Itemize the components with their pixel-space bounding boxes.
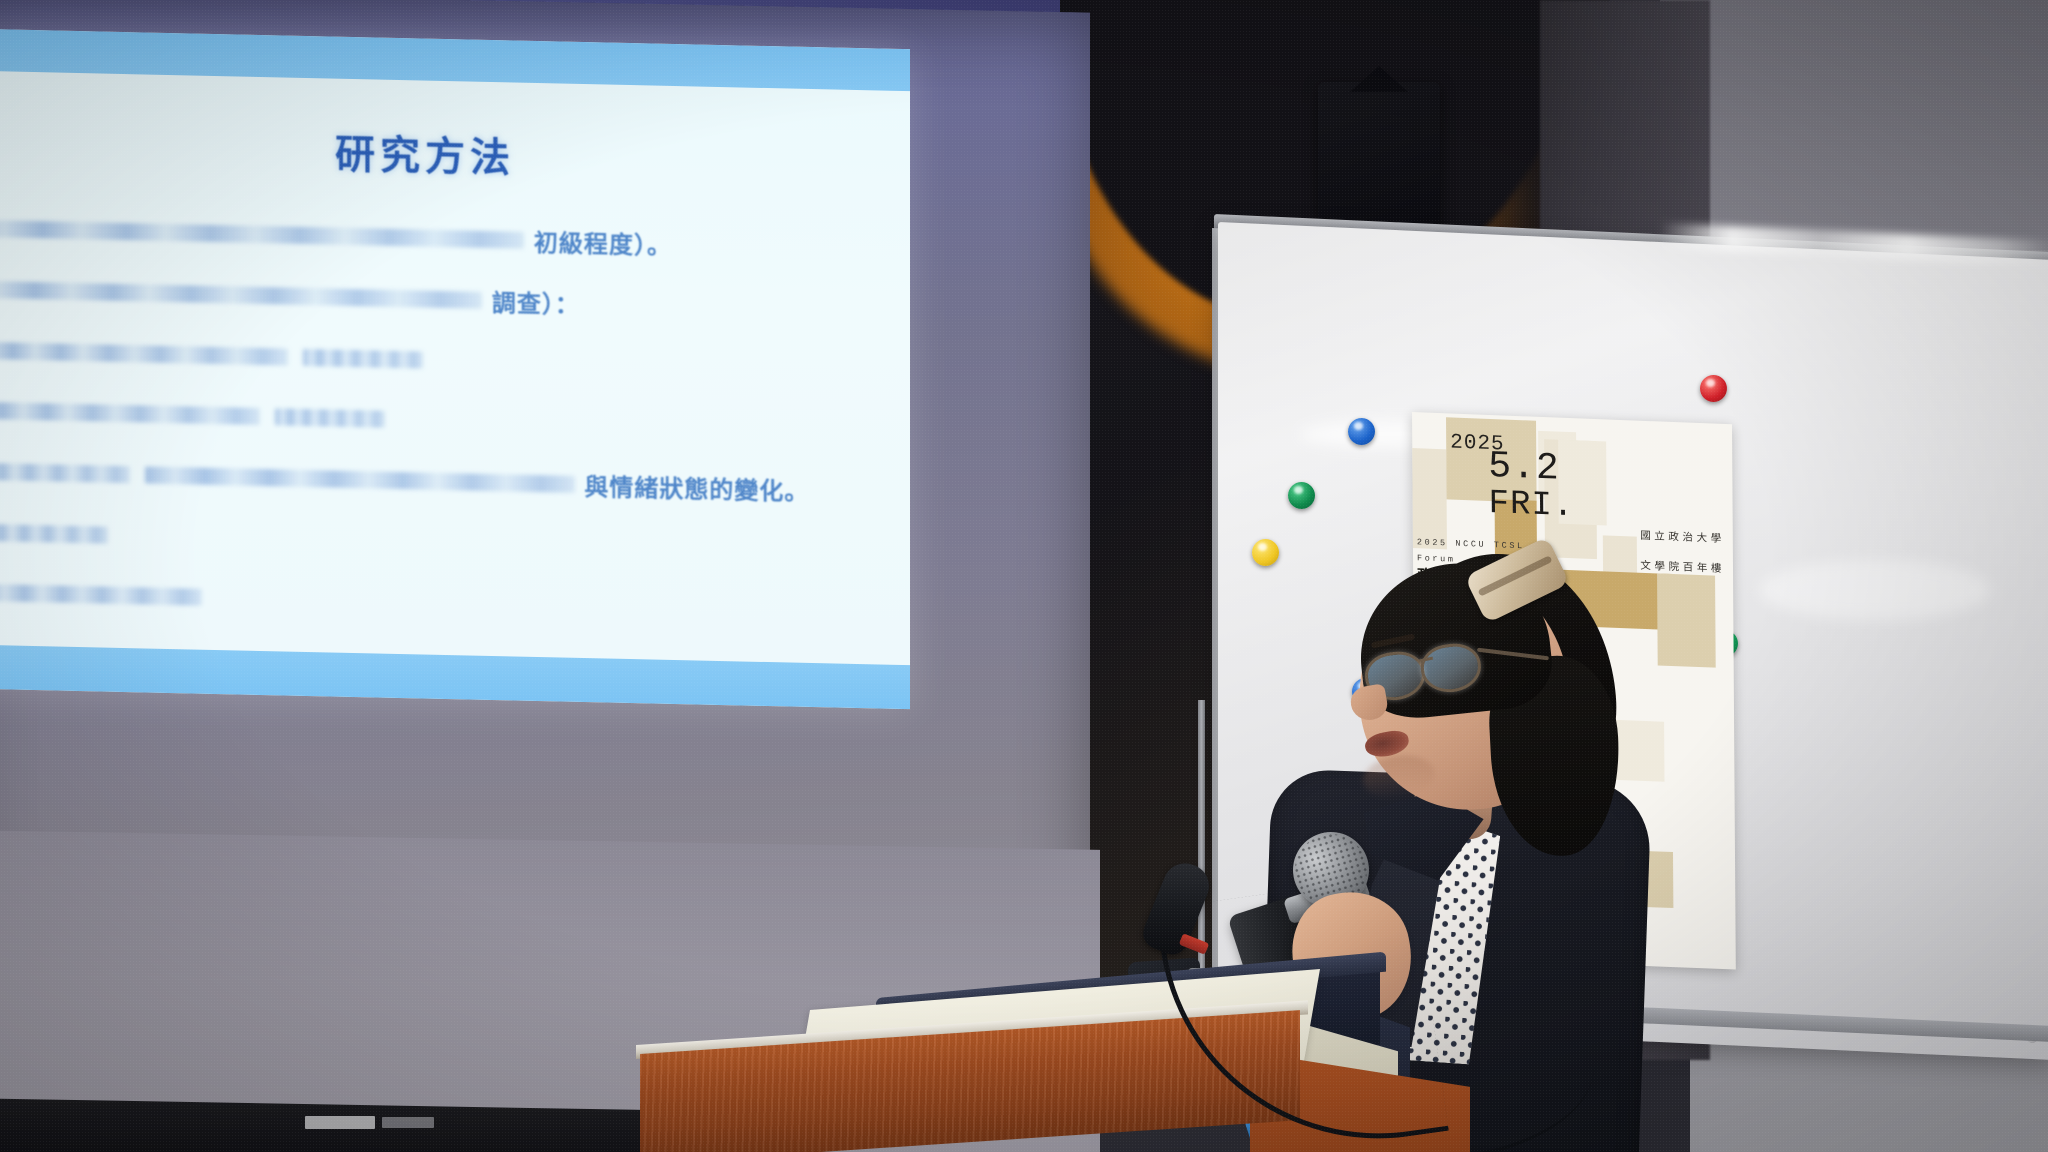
slide-bullet-4-blur-b bbox=[275, 408, 385, 427]
slide-bullet-2-tail: 調查）： bbox=[492, 283, 580, 320]
slide-bullet-6: 理 bbox=[0, 514, 118, 553]
magnet-red-right[interactable] bbox=[1700, 375, 1727, 402]
ceiling-band bbox=[1660, 0, 2048, 250]
slide-bullet-7-blur bbox=[0, 583, 202, 605]
poster-block-1 bbox=[1412, 447, 1447, 549]
magnet-green-left[interactable] bbox=[1288, 482, 1315, 509]
slide-bullet-5-blur-a bbox=[0, 462, 130, 483]
slide-bullet-2-blur bbox=[0, 280, 482, 308]
poster-organizer-line-1: 國立政治大學 bbox=[1640, 525, 1725, 550]
gooseneck-mic-cable bbox=[1257, 999, 1597, 1152]
slide-bullet-4-blur bbox=[0, 401, 260, 425]
slide-bullet-1-blur bbox=[0, 220, 524, 249]
slide-bullet-3-blur bbox=[0, 342, 288, 366]
presentation-photo-scene: 研究方法 象 初級程度）。 計 調查）： 測 預 量 bbox=[0, 0, 2048, 1152]
slide-bullet-5-blur-b bbox=[145, 466, 575, 492]
magnet-blue-left[interactable] bbox=[1348, 418, 1375, 445]
poster-date: 5.2 bbox=[1488, 449, 1560, 487]
screen-casing-label-2 bbox=[382, 1117, 434, 1128]
screen-casing-label bbox=[305, 1116, 375, 1129]
slide-bullet-7: 下 bbox=[0, 574, 212, 615]
slide-bullet-6-blur bbox=[0, 523, 108, 543]
slide-bullet-3-blur-b bbox=[303, 349, 423, 369]
poster-weekday: FRI. bbox=[1488, 485, 1574, 526]
slide-bullet-5-tail: 與情緒狀態的變化。 bbox=[584, 467, 809, 507]
slide-bullet-1-tail: 初級程度）。 bbox=[534, 223, 672, 261]
poster-english-line-1: 2025 NCCU TCSL bbox=[1417, 536, 1525, 553]
projected-slide: 研究方法 象 初級程度）。 計 調查）： 測 預 量 bbox=[0, 28, 910, 709]
